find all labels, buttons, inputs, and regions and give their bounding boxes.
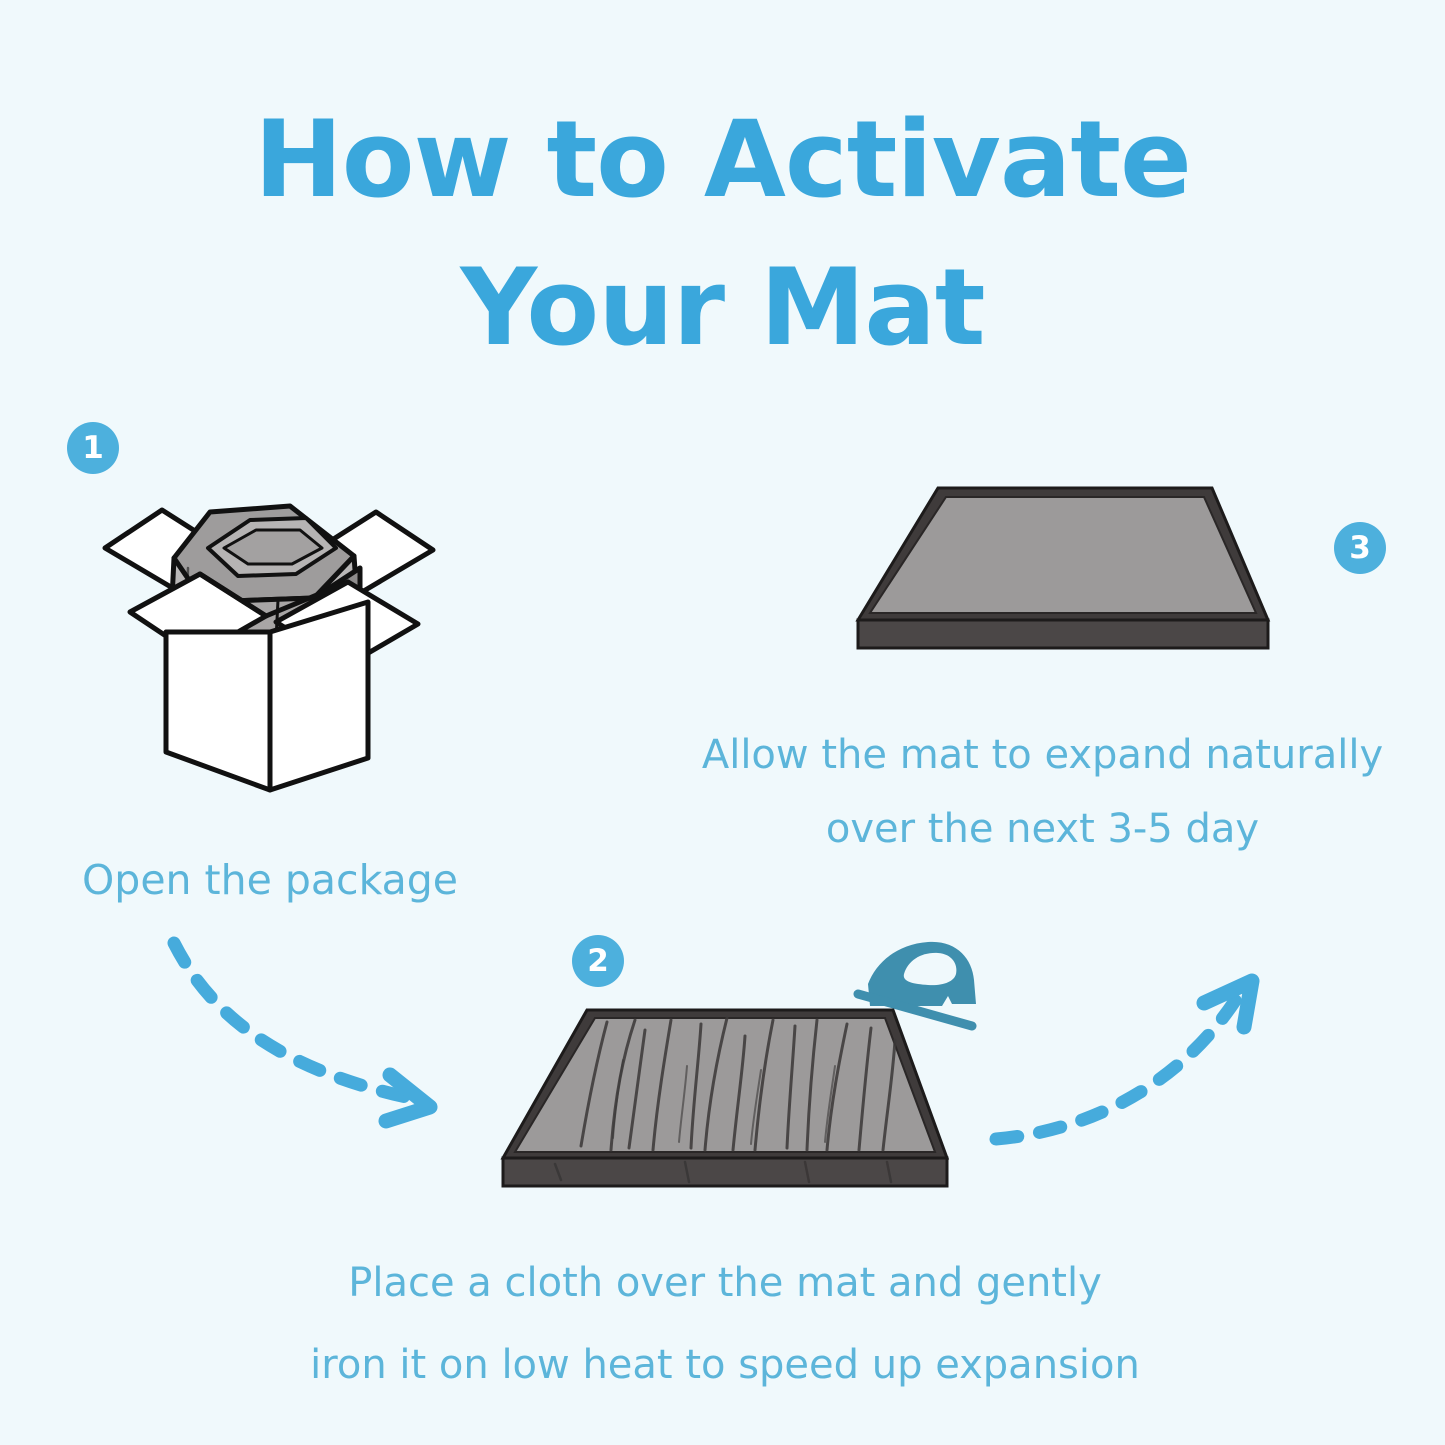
step-2-caption-line-1: Place a cloth over the mat and gently <box>215 1242 1235 1324</box>
step-3-caption-line-1: Allow the mat to expand naturally <box>640 718 1445 792</box>
title-line-2: Your Mat <box>0 234 1445 382</box>
step-1-caption: Open the package <box>0 848 540 912</box>
title-line-1: How to Activate <box>0 86 1445 234</box>
open-box-illustration <box>100 490 440 820</box>
step-3-caption: Allow the mat to expand naturally over t… <box>640 718 1445 866</box>
expanded-mat-illustration <box>840 480 1280 665</box>
step-badge-3: 3 <box>1334 522 1386 574</box>
step-badge-2: 2 <box>572 935 624 987</box>
dashed-arrow-step2-to-step3 <box>990 965 1280 1165</box>
step-badge-1: 1 <box>67 422 119 474</box>
step-2-caption-line-2: iron it on low heat to speed up expansio… <box>215 1324 1235 1406</box>
step-2-caption: Place a cloth over the mat and gently ir… <box>215 1242 1235 1406</box>
page-title: How to Activate Your Mat <box>0 86 1445 382</box>
mat-with-cloth-illustration <box>495 1000 955 1215</box>
step-3-caption-line-2: over the next 3-5 day <box>640 792 1445 866</box>
infographic-canvas: How to Activate Your Mat 1 <box>0 0 1445 1445</box>
dashed-arrow-step1-to-step2 <box>168 935 468 1135</box>
